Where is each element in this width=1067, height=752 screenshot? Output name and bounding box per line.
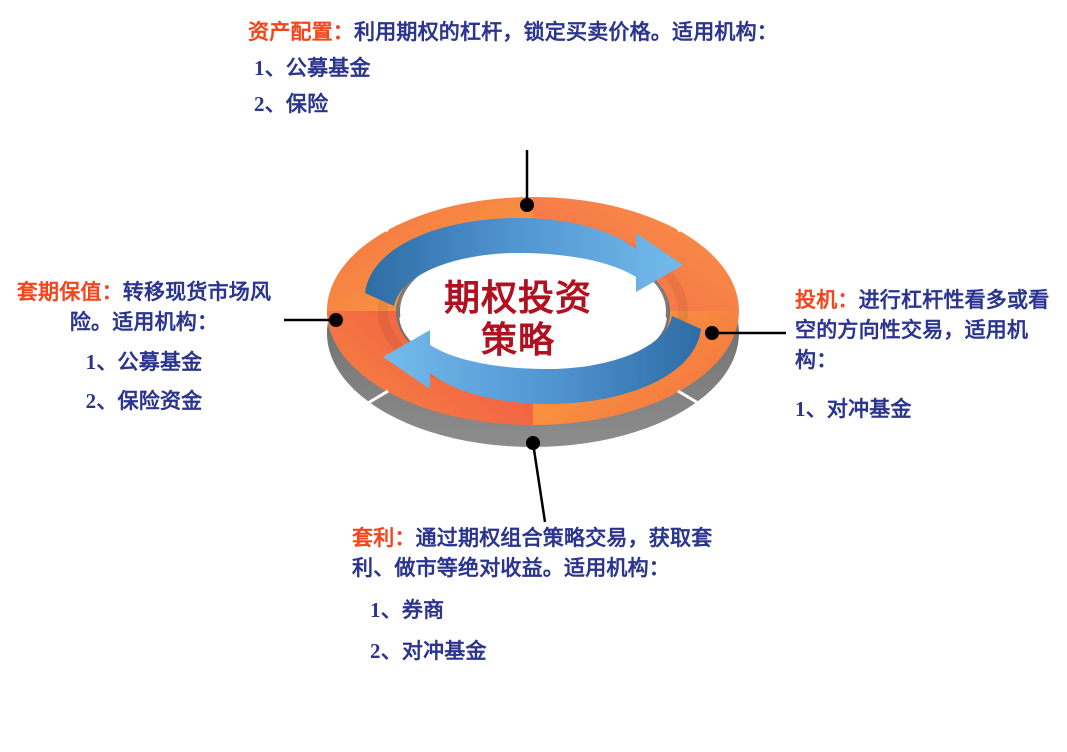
callout-hedging: 套期保值：转移现货市场风险。适用机构： 1、公募基金 2、保险资金: [8, 278, 280, 417]
callout-top-body: 利用期权的杠杆，锁定买卖价格。适用机构：: [354, 20, 778, 44]
callout-speculation: 投机：进行杠杆性看多或看空的方向性交易，适用机构： 1、对冲基金: [795, 286, 1060, 425]
callout-left-lead: 套期保值：: [17, 280, 123, 304]
callout-left-paragraph: 套期保值：转移现货市场风险。适用机构：: [8, 278, 280, 338]
callout-top-item-2: 2、保险: [254, 90, 968, 120]
center-title-line-2: 策略: [398, 319, 638, 361]
callout-left-item-2: 2、保险资金: [8, 387, 280, 417]
ring-divider-nw: [338, 201, 388, 231]
center-title-line-1: 期权投资: [398, 277, 638, 319]
callout-bottom-item-1: 1、券商: [370, 596, 752, 626]
callout-top-paragraph: 资产配置：利用期权的杠杆，锁定买卖价格。适用机构：: [248, 18, 968, 48]
callout-bottom-paragraph: 套利：通过期权组合策略交易，获取套利、做市等绝对收益。适用机构：: [352, 524, 752, 584]
callout-bottom-item-2: 2、对冲基金: [370, 637, 752, 667]
callout-left-item-1: 1、公募基金: [8, 348, 280, 378]
callout-right-paragraph: 投机：进行杠杆性看多或看空的方向性交易，适用机构：: [795, 286, 1060, 375]
callout-arbitrage: 套利：通过期权组合策略交易，获取套利、做市等绝对收益。适用机构： 1、券商 2、…: [352, 524, 752, 667]
ring-divider-ne: [678, 201, 728, 231]
callout-top-item-1: 1、公募基金: [254, 54, 968, 84]
callout-right-lead: 投机：: [795, 288, 859, 312]
callout-asset-allocation: 资产配置：利用期权的杠杆，锁定买卖价格。适用机构： 1、公募基金 2、保险: [248, 18, 968, 119]
callout-right-item-1: 1、对冲基金: [795, 395, 1060, 425]
callout-top-lead: 资产配置：: [248, 20, 354, 44]
center-title: 期权投资 策略: [398, 277, 638, 362]
